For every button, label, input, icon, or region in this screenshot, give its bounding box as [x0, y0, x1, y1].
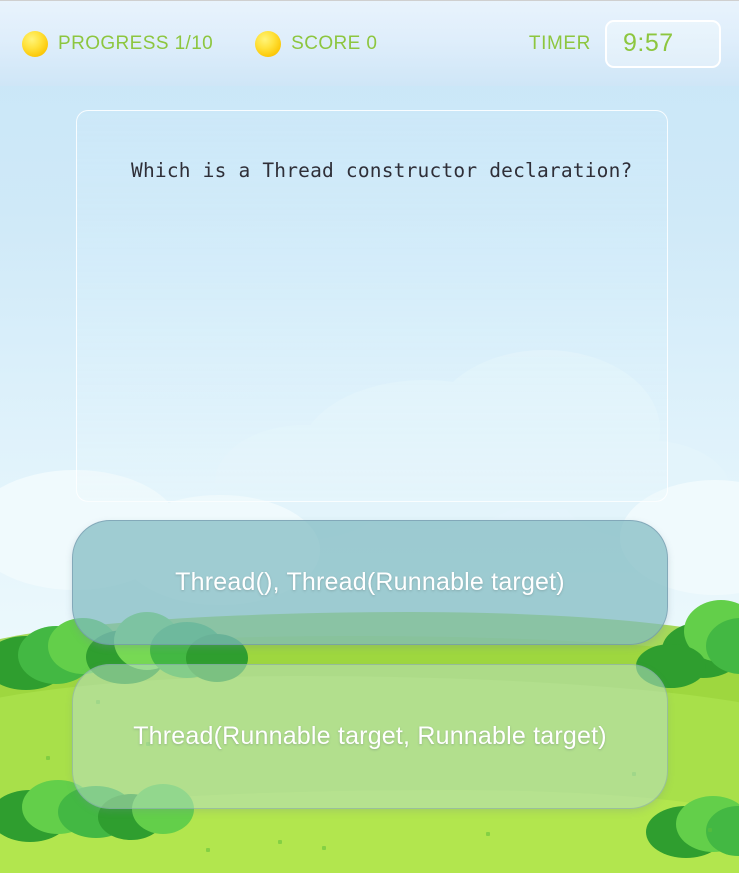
quiz-game-screen: PROGRESS 1/10 SCORE 0 TIMER 9:57 Which i… [0, 0, 739, 873]
score-indicator: SCORE 0 [255, 31, 377, 57]
answer-option-2-label: Thread(Runnable target, Runnable target) [109, 722, 631, 751]
grass-speck [708, 828, 712, 832]
grass-speck [322, 846, 326, 850]
answer-option-1-label: Thread(), Thread(Runnable target) [151, 568, 589, 597]
hud-bar: PROGRESS 1/10 SCORE 0 TIMER 9:57 [0, 0, 739, 86]
timer-box: 9:57 [605, 20, 721, 68]
answer-option-1[interactable]: Thread(), Thread(Runnable target) [72, 520, 668, 645]
timer-value: 9:57 [623, 29, 674, 58]
progress-label: PROGRESS 1/10 [58, 33, 213, 55]
grass-speck [278, 840, 282, 844]
gold-orb-icon [255, 31, 281, 57]
question-text: Which is a Thread constructor declaratio… [101, 137, 643, 184]
timer-label: TIMER [529, 33, 591, 55]
progress-indicator: PROGRESS 1/10 [22, 31, 213, 57]
grass-speck [46, 756, 50, 760]
gold-orb-icon [22, 31, 48, 57]
grass-speck [486, 832, 490, 836]
score-label: SCORE 0 [291, 33, 377, 55]
grass-speck [206, 848, 210, 852]
question-card: Which is a Thread constructor declaratio… [76, 110, 668, 502]
answer-option-2[interactable]: Thread(Runnable target, Runnable target) [72, 664, 668, 809]
